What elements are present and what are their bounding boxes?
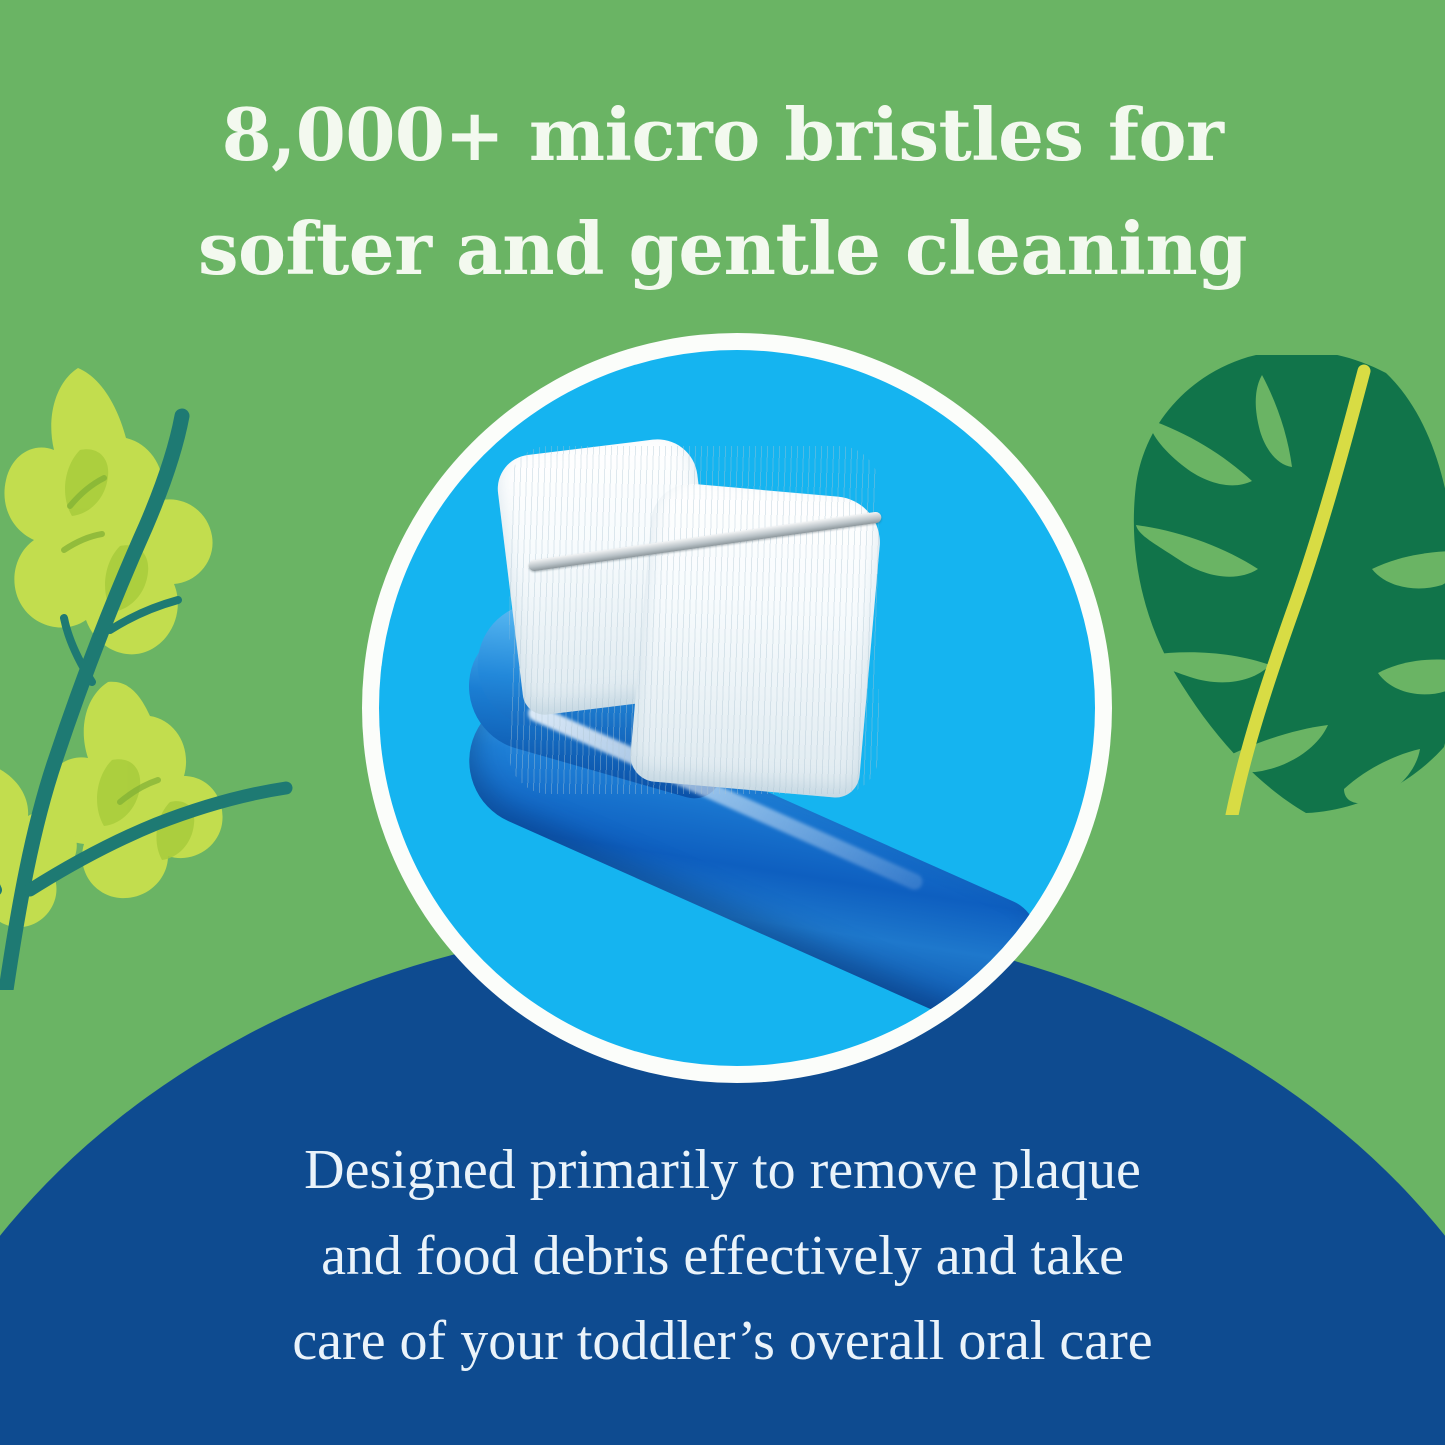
product-image-badge bbox=[362, 333, 1112, 1083]
headline-line-1: 8,000+ micro bristles for bbox=[222, 92, 1224, 177]
headline-line-2: softer and gentle cleaning bbox=[198, 206, 1247, 291]
micro-bristle-texture bbox=[509, 446, 879, 794]
page-title: 8,000+ micro bristles for softer and gen… bbox=[110, 78, 1335, 306]
subcopy-line-2: and food debris effectively and take bbox=[150, 1214, 1295, 1300]
subcopy-text-block: Designed primarily to remove plaque and … bbox=[150, 1128, 1295, 1385]
subcopy-line-3: care of your toddler’s overall oral care bbox=[150, 1299, 1295, 1385]
subcopy-line-1: Designed primarily to remove plaque bbox=[150, 1128, 1295, 1214]
promo-graphic-canvas: 8,000+ micro bristles for softer and gen… bbox=[0, 0, 1445, 1445]
toothbrush-head-photo bbox=[379, 350, 1095, 1066]
